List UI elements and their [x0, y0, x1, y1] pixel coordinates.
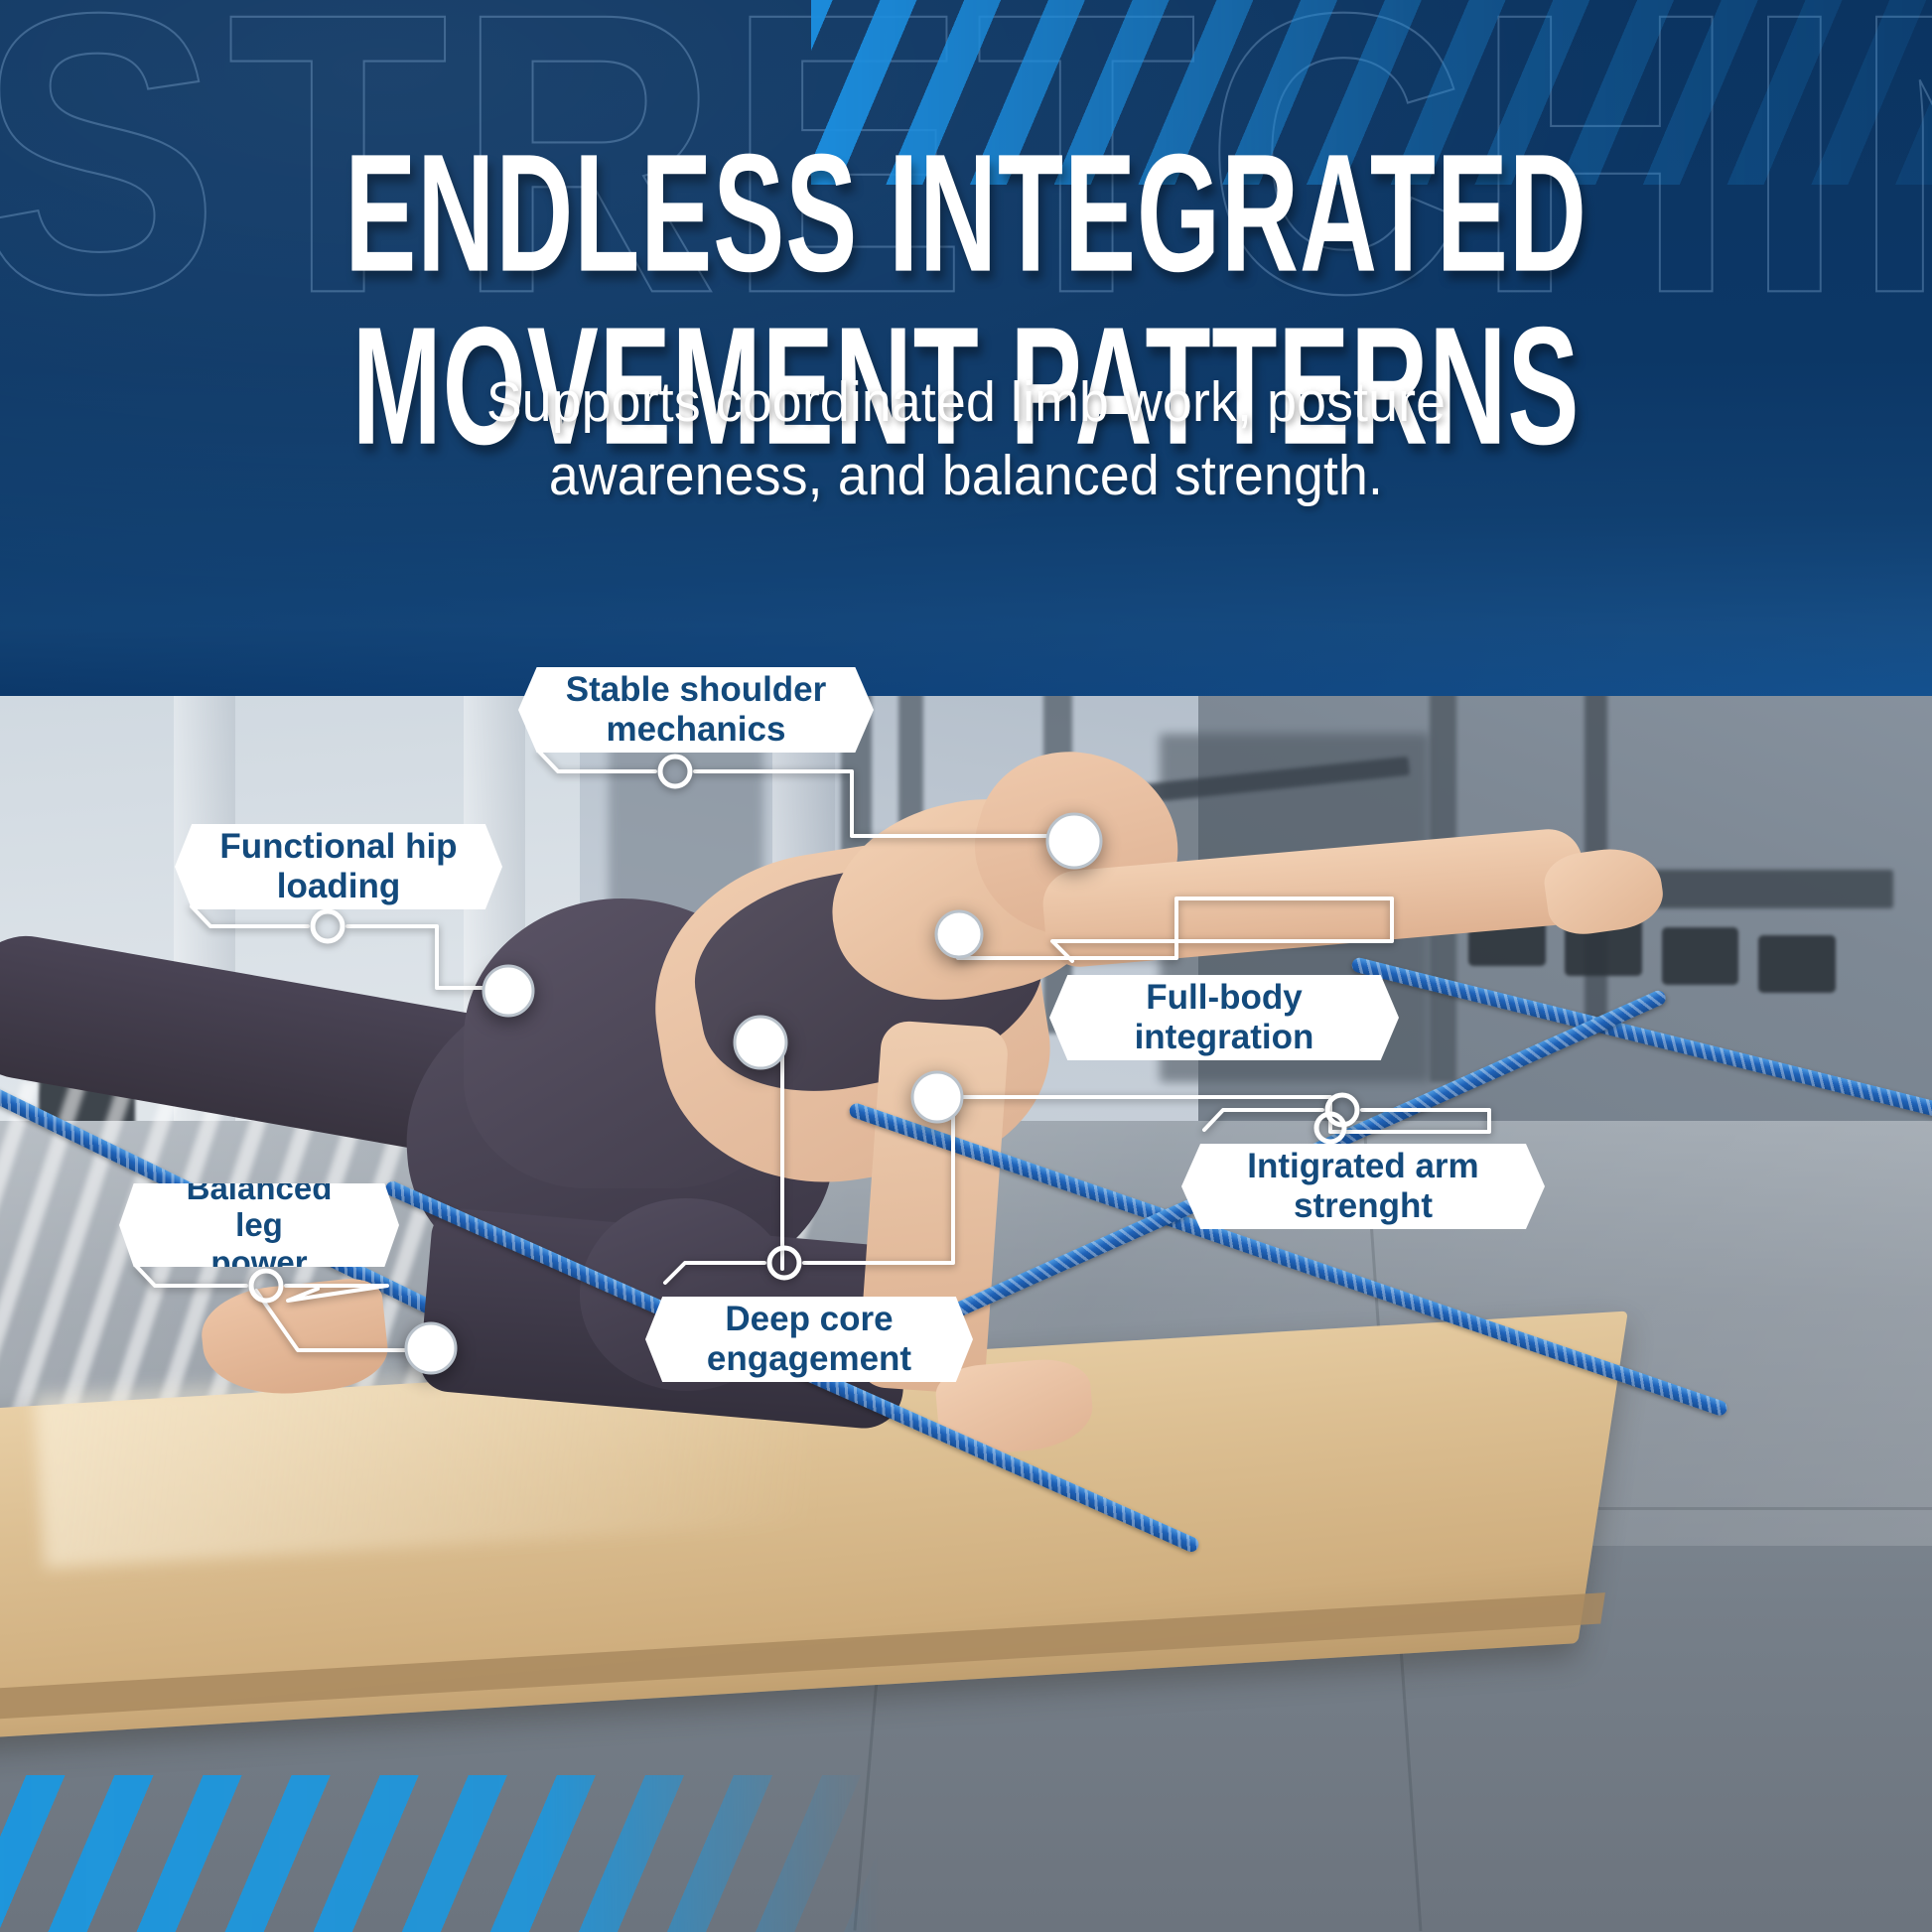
leader-leg-left	[136, 1266, 246, 1286]
leader-full	[958, 898, 1392, 958]
leader-node-arm	[1327, 1095, 1357, 1125]
leader-hip-left	[192, 906, 308, 926]
anchor-dot-upper-back	[936, 911, 982, 957]
anchor-dot-hip	[483, 966, 533, 1016]
callout-line-1: Stable shoulder	[566, 670, 827, 710]
infographic-poster: STRETCHING ENDLESS INTEGRATED MOVEMENT P…	[0, 0, 1932, 1932]
leader-core-up	[804, 1100, 953, 1263]
anchor-dot-shoulder	[1047, 814, 1101, 868]
leader-leg	[256, 1291, 429, 1350]
callout-line-2: power	[163, 1244, 355, 1282]
callout-stable-shoulder-mechanics[interactable]: Stable shoulder mechanics	[518, 667, 874, 753]
leader-hip	[347, 926, 504, 988]
leader-node-leg	[251, 1271, 281, 1301]
leader-arm-left	[1204, 1110, 1322, 1130]
callout-deep-core-engagement[interactable]: Deep core engagement	[645, 1297, 973, 1382]
callout-layer: Stable shoulder mechanics Functional hip…	[0, 0, 1932, 1932]
callout-line-1: Full-body	[1135, 978, 1314, 1018]
leader-core-left	[665, 1263, 764, 1283]
callout-line-1: Functional hip	[219, 827, 457, 867]
leader-arm	[941, 1097, 1489, 1132]
leader-shoulder	[695, 771, 1057, 836]
callout-line-2: engagement	[707, 1339, 911, 1379]
leader-full-left	[1052, 941, 1206, 961]
leader-leg-seg	[286, 1286, 387, 1301]
leader-node-full	[1316, 1114, 1344, 1142]
anchor-dot-arm	[912, 1072, 962, 1122]
anchor-dot-core	[735, 1017, 786, 1068]
leader-node-shoulder	[660, 757, 690, 786]
callout-full-body-integration[interactable]: Full-body integration	[1049, 975, 1399, 1060]
callout-line-1: Deep core	[707, 1300, 911, 1339]
callout-intigrated-arm-strenght[interactable]: Intigrated arm strenght	[1181, 1144, 1545, 1229]
callout-line-1: Intigrated arm	[1247, 1147, 1478, 1186]
callout-line-2: strenght	[1247, 1186, 1478, 1226]
callout-line-1: Balanced leg	[163, 1170, 355, 1244]
callout-balanced-leg-power[interactable]: Balanced leg power	[119, 1183, 399, 1267]
callout-leader-lines	[0, 0, 1932, 1932]
leader-core	[762, 1042, 782, 1269]
diagonal-stripes-bottom-left	[0, 1775, 879, 1932]
callout-line-2: integration	[1135, 1018, 1314, 1057]
callout-functional-hip-loading[interactable]: Functional hip loading	[175, 824, 502, 909]
callout-line-2: loading	[219, 867, 457, 906]
leader-node-hip	[313, 911, 343, 941]
leader-node-core	[769, 1248, 799, 1278]
anchor-dot-leg	[406, 1323, 456, 1373]
leader-shoulder-left	[539, 752, 655, 771]
callout-line-2: mechanics	[566, 710, 827, 750]
